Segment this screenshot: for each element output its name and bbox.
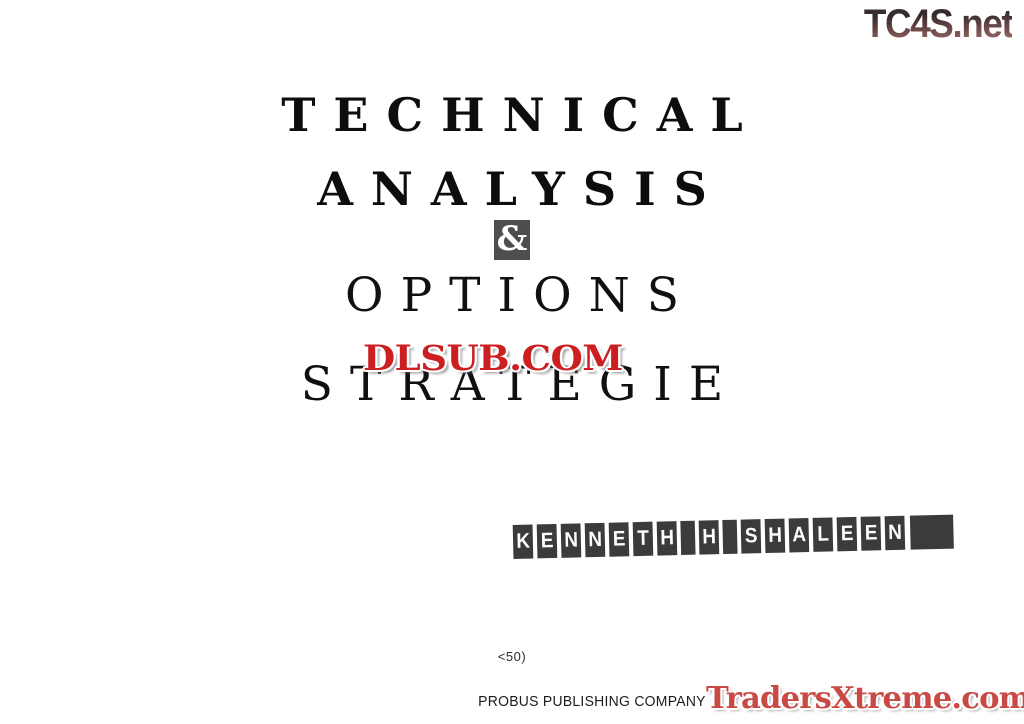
- book-cover-page: TC4S.net TECHNICAL ANALYSIS & OPTIONS ST…: [0, 0, 1024, 724]
- author-tile: E: [609, 522, 630, 556]
- author-tile: E: [837, 517, 858, 551]
- author-tile: L: [813, 517, 834, 551]
- author-tile: N: [561, 523, 582, 557]
- author-name-banner: K E N N E T H H S H A L E E N: [512, 515, 957, 559]
- price-mark: <50): [0, 649, 1024, 664]
- publisher-row: PROBUS PUBLISHING COMPANY TradersXtreme.…: [0, 680, 1024, 716]
- author-tile-gap: [680, 521, 695, 555]
- author-tile-end: [910, 515, 954, 550]
- author-tile: E: [861, 516, 882, 550]
- ampersand-box: &: [494, 220, 530, 260]
- tc4s-watermark: TC4S.net: [864, 4, 1012, 44]
- author-tile: A: [789, 518, 810, 552]
- publisher-name: PROBUS PUBLISHING COMPANY: [478, 693, 706, 716]
- author-tile: E: [537, 524, 558, 558]
- author-tile: T: [633, 522, 654, 556]
- tradersxtreme-watermark: TradersXtreme.com: [706, 684, 1024, 716]
- author-tile: H: [657, 521, 678, 555]
- title-line-technical: TECHNICAL: [0, 92, 1024, 138]
- author-tile-gap: [722, 520, 737, 554]
- ampersand-row: &: [0, 218, 1024, 262]
- author-tile: S: [741, 519, 762, 553]
- author-tile: K: [513, 525, 534, 559]
- author-tile: N: [885, 516, 906, 550]
- author-tile: H: [765, 519, 786, 553]
- title-line-analysis: ANALYSIS: [0, 166, 1024, 212]
- author-tile: N: [585, 523, 606, 557]
- title-line-options: OPTIONS: [0, 272, 1024, 319]
- author-tile: H: [699, 520, 720, 554]
- dlsub-watermark: DLSUB.COM: [363, 341, 623, 376]
